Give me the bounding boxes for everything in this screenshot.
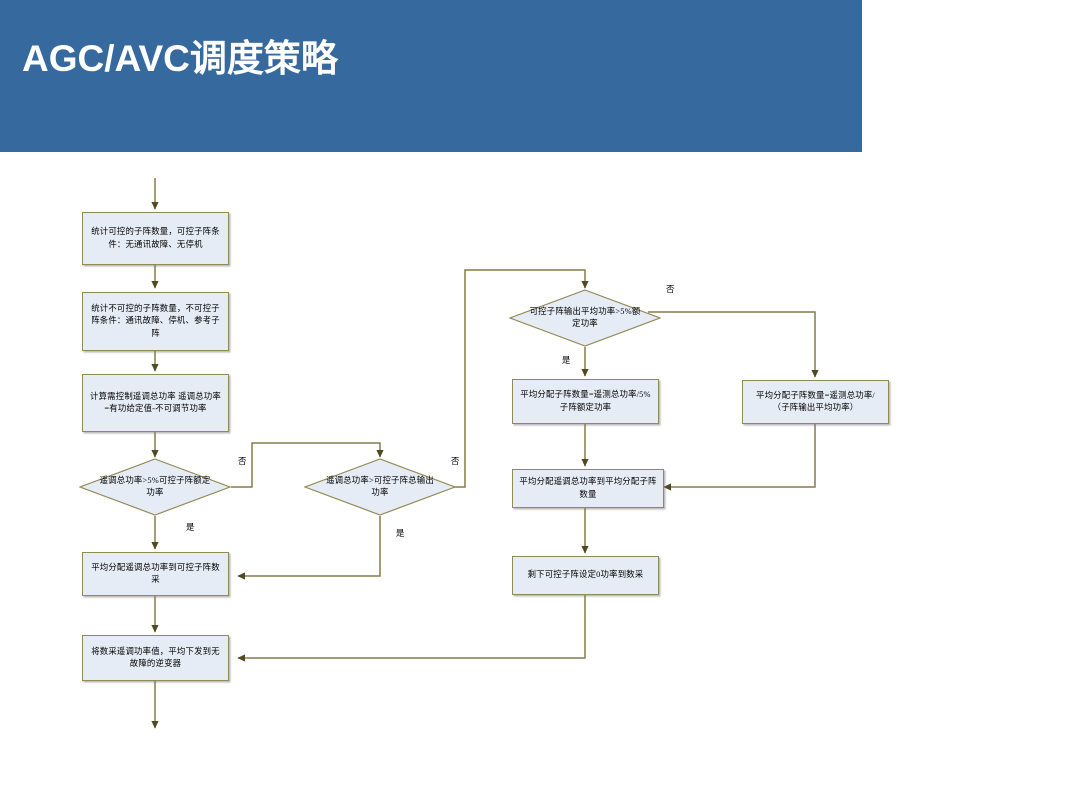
- edge-label-d1-no: 否: [238, 455, 246, 467]
- node-n4-label: 平均分配遥调总功率到可控子阵数采: [88, 562, 223, 586]
- node-n8[interactable]: 平均分配遥调总功率到平均分配子阵数量: [512, 469, 664, 508]
- node-n2[interactable]: 统计不可控的子阵数量，不可控子阵条件：通讯故障、停机、参考子阵: [82, 292, 229, 351]
- edge-label-d1-yes: 是: [186, 521, 194, 533]
- node-d1-label: 遥调总功率>5%可控子阵额定功率: [99, 475, 211, 499]
- node-n3[interactable]: 计算需控制遥调总功率 遥调总功率=有功给定值-不可调节功率: [82, 374, 229, 432]
- node-n1-label: 统计可控的子阵数量，可控子阵条件：无通讯故障、无停机: [88, 226, 223, 250]
- node-d2-label: 遥调总功率>可控子阵总输出功率: [324, 475, 436, 499]
- node-n7-label: 平均分配子阵数量=遥测总功率/（子阵输出平均功率）: [748, 390, 883, 414]
- node-n1[interactable]: 统计可控的子阵数量，可控子阵条件：无通讯故障、无停机: [82, 212, 229, 265]
- node-n5[interactable]: 将数采遥调功率值，平均下发到无故障的逆变器: [82, 635, 229, 681]
- node-n9-label: 剩下可控子阵设定0功率到数采: [518, 569, 653, 581]
- node-n5-label: 将数采遥调功率值，平均下发到无故障的逆变器: [88, 646, 223, 670]
- node-n6[interactable]: 平均分配子阵数量=遥测总功率/5%子阵额定功率: [512, 379, 659, 424]
- node-d2[interactable]: 遥调总功率>可控子阵总输出功率: [304, 458, 456, 516]
- node-n7[interactable]: 平均分配子阵数量=遥测总功率/（子阵输出平均功率）: [742, 380, 889, 424]
- edge-label-d3-yes: 是: [562, 354, 570, 366]
- node-n2-label: 统计不可控的子阵数量，不可控子阵条件：通讯故障、停机、参考子阵: [88, 303, 223, 340]
- node-n8-label: 平均分配遥调总功率到平均分配子阵数量: [518, 476, 658, 500]
- edge-label-d2-yes: 是: [396, 527, 404, 539]
- edge-label-d2-no: 否: [451, 455, 459, 467]
- edge-label-d3-no: 否: [666, 283, 674, 295]
- node-n6-label: 平均分配子阵数量=遥测总功率/5%子阵额定功率: [518, 389, 653, 413]
- node-d3[interactable]: 可控子阵输出平均功率>5%额定功率: [509, 289, 661, 347]
- node-n4[interactable]: 平均分配遥调总功率到可控子阵数采: [82, 552, 229, 596]
- node-d3-label: 可控子阵输出平均功率>5%额定功率: [529, 306, 641, 330]
- node-n3-label: 计算需控制遥调总功率 遥调总功率=有功给定值-不可调节功率: [88, 391, 223, 415]
- flowchart-canvas: 统计可控的子阵数量，可控子阵条件：无通讯故障、无停机 统计不可控的子阵数量，不可…: [0, 0, 1080, 810]
- node-d1[interactable]: 遥调总功率>5%可控子阵额定功率: [79, 458, 231, 516]
- node-n9[interactable]: 剩下可控子阵设定0功率到数采: [512, 556, 659, 595]
